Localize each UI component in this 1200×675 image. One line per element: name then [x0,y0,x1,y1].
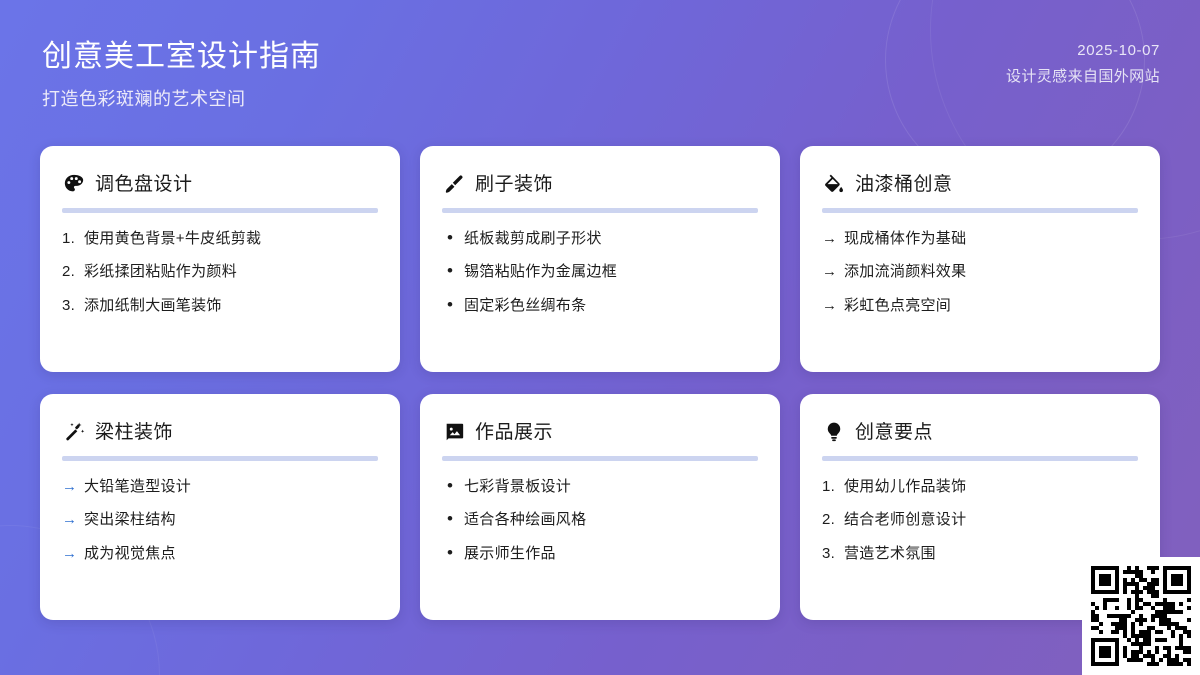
list-item: →突出梁柱结构 [62,510,378,530]
list-item-text: 添加流淌颜料效果 [844,262,1138,282]
card-header: 梁柱装饰 [62,418,378,446]
list-item-text: 结合老师创意设计 [844,510,1138,530]
image-icon [442,420,466,444]
title-underline [822,208,1138,213]
card-list: 1.使用幼儿作品装饰2.结合老师创意设计3.营造艺术氛围 [822,477,1138,564]
list-item-text: 彩纸揉团粘贴作为颜料 [84,262,378,282]
list-marker: • [442,229,464,246]
qr-code-image [1091,566,1191,666]
list-item-text: 使用幼儿作品装饰 [844,477,1138,497]
card-list: 1.使用黄色背景+牛皮纸剪裁2.彩纸揉团粘贴作为颜料3.添加纸制大画笔装饰 [62,229,378,316]
list-marker: 2. [62,262,84,282]
header-left: 创意美工室设计指南 打造色彩斑斓的艺术空间 [42,30,321,111]
list-item-text: 成为视觉焦点 [84,544,378,564]
info-card: 梁柱装饰→大铅笔造型设计→突出梁柱结构→成为视觉焦点 [40,394,400,620]
list-item-text: 彩虹色点亮空间 [844,296,1138,316]
list-marker: → [62,544,84,564]
list-item-text: 展示师生作品 [464,544,758,564]
list-item: •适合各种绘画风格 [442,510,758,530]
list-marker: 2. [822,510,844,530]
title-underline [822,456,1138,461]
info-card: 油漆桶创意→现成桶体作为基础→添加流淌颜料效果→彩虹色点亮空间 [800,146,1160,372]
list-marker: 1. [822,477,844,497]
card-title: 刷子装饰 [475,175,553,194]
title-underline [62,208,378,213]
list-marker: 3. [62,296,84,316]
card-list: •纸板裁剪成刷子形状•锡箔粘贴作为金属边框•固定彩色丝绸布条 [442,229,758,316]
qr-code[interactable] [1082,557,1200,675]
paintbrush-icon [442,172,466,196]
list-item-text: 固定彩色丝绸布条 [464,296,758,316]
list-item-text: 使用黄色背景+牛皮纸剪裁 [84,229,378,249]
list-item: 3.添加纸制大画笔装饰 [62,296,378,316]
card-title: 作品展示 [475,423,553,442]
list-marker: • [442,477,464,494]
list-item: →成为视觉焦点 [62,544,378,564]
list-item: →大铅笔造型设计 [62,477,378,497]
source-label: 设计灵感来自国外网站 [1006,65,1160,86]
list-item-text: 大铅笔造型设计 [84,477,378,497]
list-item: →彩虹色点亮空间 [822,296,1138,316]
list-item: •七彩背景板设计 [442,477,758,497]
list-item: 1.使用幼儿作品装饰 [822,477,1138,497]
list-marker: → [62,477,84,497]
list-item-text: 突出梁柱结构 [84,510,378,530]
card-header: 刷子装饰 [442,170,758,198]
list-item: →添加流淌颜料效果 [822,262,1138,282]
list-marker: • [442,510,464,527]
list-marker: → [822,296,844,316]
card-title: 调色盘设计 [95,175,193,194]
paint-bucket-icon [822,172,846,196]
list-item-text: 适合各种绘画风格 [464,510,758,530]
info-card: 调色盘设计1.使用黄色背景+牛皮纸剪裁2.彩纸揉团粘贴作为颜料3.添加纸制大画笔… [40,146,400,372]
list-marker: • [442,296,464,313]
date-label: 2025-10-07 [1006,42,1160,59]
palette-icon [62,172,86,196]
card-title: 创意要点 [855,423,933,442]
list-marker: • [442,544,464,561]
title-underline [442,456,758,461]
card-grid: 调色盘设计1.使用黄色背景+牛皮纸剪裁2.彩纸揉团粘贴作为颜料3.添加纸制大画笔… [40,146,1160,620]
lightbulb-icon [822,420,846,444]
page-title: 创意美工室设计指南 [42,38,321,76]
list-item: •展示师生作品 [442,544,758,564]
card-list: →现成桶体作为基础→添加流淌颜料效果→彩虹色点亮空间 [822,229,1138,316]
card-list: →大铅笔造型设计→突出梁柱结构→成为视觉焦点 [62,477,378,564]
list-marker: 3. [822,544,844,564]
list-item: •纸板裁剪成刷子形状 [442,229,758,249]
list-marker: → [62,510,84,530]
card-list: •七彩背景板设计•适合各种绘画风格•展示师生作品 [442,477,758,564]
list-item: 1.使用黄色背景+牛皮纸剪裁 [62,229,378,249]
list-item-text: 锡箔粘贴作为金属边框 [464,262,758,282]
card-header: 作品展示 [442,418,758,446]
slide-canvas: 创意美工室设计指南 打造色彩斑斓的艺术空间 2025-10-07 设计灵感来自国… [0,0,1200,675]
info-card: 刷子装饰•纸板裁剪成刷子形状•锡箔粘贴作为金属边框•固定彩色丝绸布条 [420,146,780,372]
title-underline [62,456,378,461]
list-item: •锡箔粘贴作为金属边框 [442,262,758,282]
list-item: •固定彩色丝绸布条 [442,296,758,316]
list-item-text: 七彩背景板设计 [464,477,758,497]
info-card: 作品展示•七彩背景板设计•适合各种绘画风格•展示师生作品 [420,394,780,620]
page-subtitle: 打造色彩斑斓的艺术空间 [42,85,321,111]
list-item-text: 添加纸制大画笔装饰 [84,296,378,316]
card-title: 梁柱装饰 [95,423,173,442]
list-marker: → [822,229,844,249]
magic-wand-icon [62,420,86,444]
slide-header: 创意美工室设计指南 打造色彩斑斓的艺术空间 2025-10-07 设计灵感来自国… [0,0,1200,135]
list-item: 2.结合老师创意设计 [822,510,1138,530]
card-header: 油漆桶创意 [822,170,1138,198]
list-item: →现成桶体作为基础 [822,229,1138,249]
card-header: 调色盘设计 [62,170,378,198]
card-title: 油漆桶创意 [855,175,953,194]
title-underline [442,208,758,213]
list-marker: • [442,262,464,279]
card-header: 创意要点 [822,418,1138,446]
list-item: 2.彩纸揉团粘贴作为颜料 [62,262,378,282]
list-marker: → [822,262,844,282]
list-item-text: 纸板裁剪成刷子形状 [464,229,758,249]
list-marker: 1. [62,229,84,249]
list-item-text: 现成桶体作为基础 [844,229,1138,249]
header-right: 2025-10-07 设计灵感来自国外网站 [1006,30,1160,86]
